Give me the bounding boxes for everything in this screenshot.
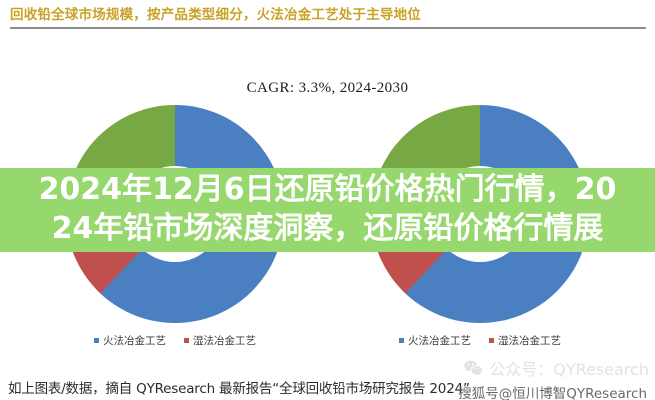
legend-item-pyrometallurgy[interactable]: 火法冶金工艺: [94, 333, 166, 348]
legend-left: 火法冶金工艺 湿法冶金工艺: [35, 333, 315, 348]
legend-swatch-red: [184, 338, 189, 343]
legend-label-pyrometallurgy: 火法冶金工艺: [103, 333, 166, 348]
legend-label-hydrometallurgy: 湿法冶金工艺: [498, 333, 561, 348]
page-title: 回收铅全球市场规模，按产品类型细分，火法冶金工艺处于主导地位: [10, 3, 421, 23]
slide-header: 回收铅全球市场规模，按产品类型细分，火法冶金工艺处于主导地位: [0, 0, 655, 30]
watermark-label: 公众号：QYResearch: [489, 356, 649, 380]
watermark: 公众号：QYResearch: [463, 356, 649, 380]
slide-footer: 如上图表/数据，摘自 QYResearch 最新报告“全球回收铅市场研究报告 2…: [0, 368, 655, 400]
watermark-brand: 搜狐号@恒川博智QYResearch: [458, 382, 647, 400]
source-note: 如上图表/数据，摘自 QYResearch 最新报告“全球回收铅市场研究报告 2…: [8, 377, 470, 397]
legend-swatch-blue: [399, 338, 404, 343]
article-title-line-2: 24年铅市场深度洞察，还原铅价格行情展: [0, 209, 655, 248]
article-title-line-1: 2024年12月6日还原铅价格热门行情，20: [0, 170, 655, 209]
article-title-overlay: 2024年12月6日还原铅价格热门行情，20 24年铅市场深度洞察，还原铅价格行…: [0, 168, 655, 252]
legend-label-hydrometallurgy: 湿法冶金工艺: [193, 333, 256, 348]
legend-item-hydrometallurgy[interactable]: 湿法冶金工艺: [489, 333, 561, 348]
legend-label-pyrometallurgy: 火法冶金工艺: [408, 333, 471, 348]
legend-right: 火法冶金工艺 湿法冶金工艺: [340, 333, 620, 348]
header-divider: [10, 27, 646, 29]
legend-swatch-red: [489, 338, 494, 343]
legend-swatch-blue: [94, 338, 99, 343]
legend-item-pyrometallurgy[interactable]: 火法冶金工艺: [399, 333, 471, 348]
legend-item-hydrometallurgy[interactable]: 湿法冶金工艺: [184, 333, 256, 348]
cagr-caption: CAGR: 3.3%, 2024-2030: [0, 80, 655, 97]
wechat-icon: [463, 358, 483, 378]
